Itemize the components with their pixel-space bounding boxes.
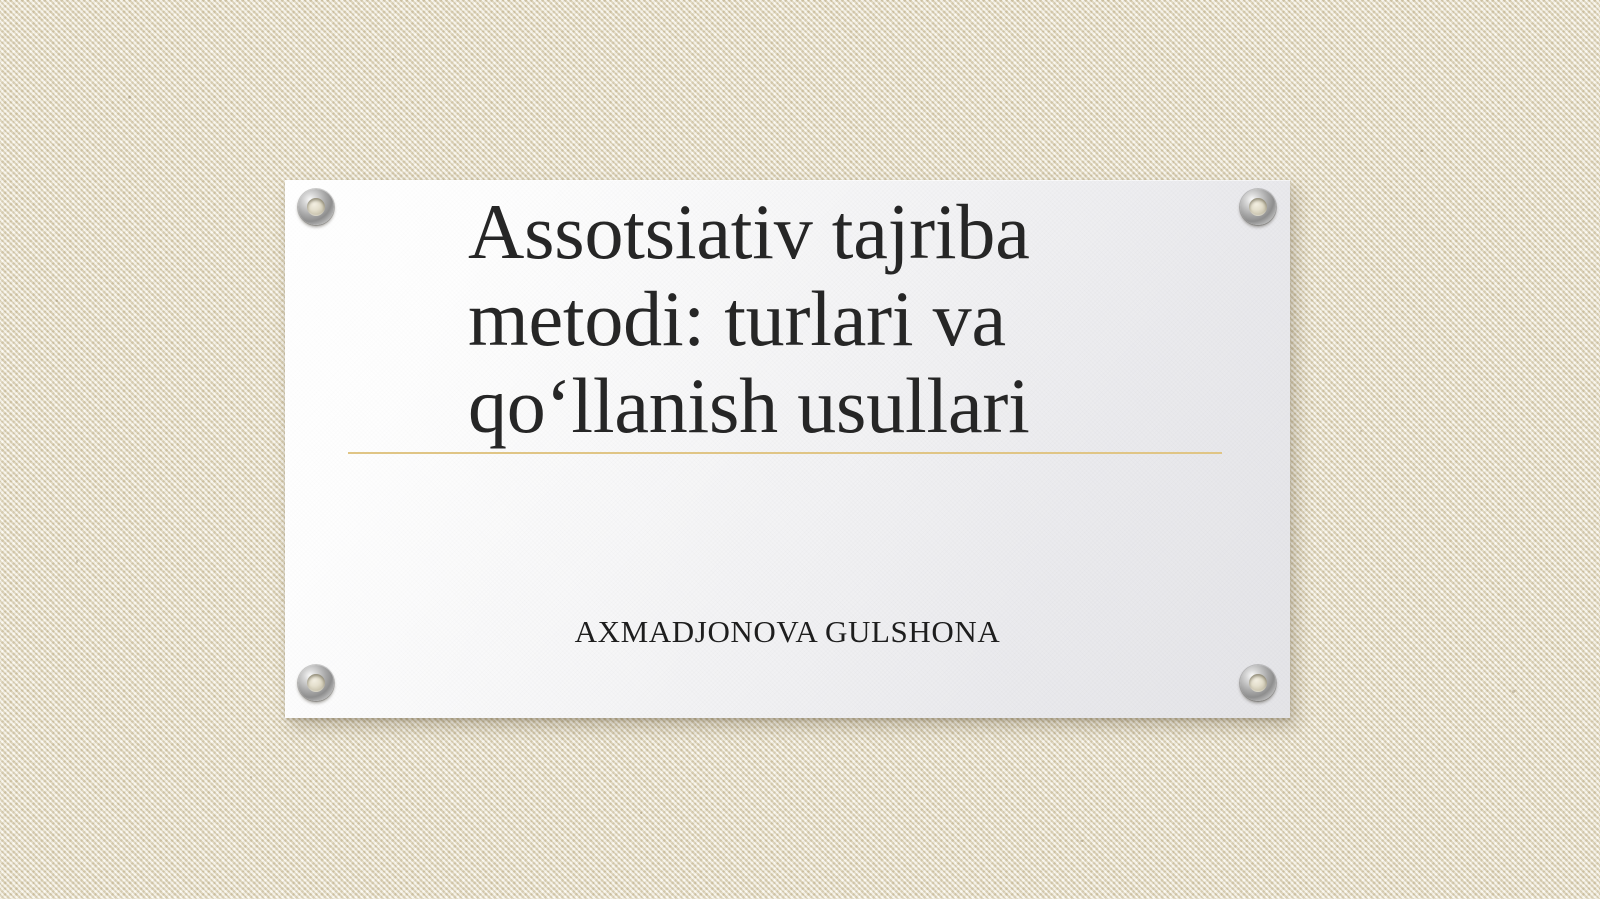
canvas-speck — [56, 300, 58, 302]
canvas-speck — [1420, 150, 1423, 152]
canvas-speck — [1080, 840, 1083, 842]
canvas-speck — [250, 776, 252, 778]
title-block: Assotsiativ tajriba metodi: turlari va q… — [468, 188, 1188, 449]
screw-top-right-icon — [1240, 189, 1276, 225]
title-divider-rule — [348, 452, 1222, 454]
canvas-speck — [392, 58, 394, 60]
canvas-speck — [640, 812, 642, 814]
screw-bottom-left-icon — [298, 665, 334, 701]
slide-title: Assotsiativ tajriba metodi: turlari va q… — [468, 188, 1188, 449]
presentation-slide: Assotsiativ tajriba metodi: turlari va q… — [0, 0, 1600, 899]
canvas-speck — [76, 560, 78, 563]
screw-top-left-icon — [298, 189, 334, 225]
screw-bottom-right-icon — [1240, 665, 1276, 701]
canvas-speck — [1512, 690, 1515, 693]
canvas-speck — [1360, 430, 1362, 432]
slide-subtitle-author: AXMADJONOVA GULSHONA — [285, 614, 1290, 650]
canvas-speck — [128, 96, 131, 99]
title-plaque: Assotsiativ tajriba metodi: turlari va q… — [285, 180, 1290, 718]
